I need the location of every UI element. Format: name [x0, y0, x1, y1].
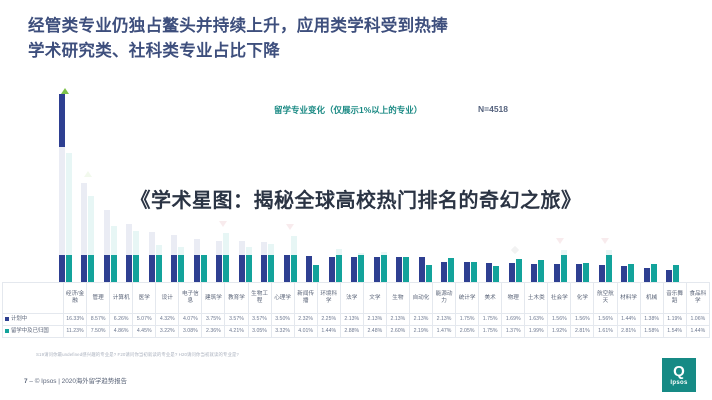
value-cell: 1.69%: [502, 314, 525, 326]
value-cell: 1.75%: [479, 314, 502, 326]
bar-series-2: [628, 264, 634, 282]
bar-series-2: [201, 255, 207, 282]
value-cell: 3.57%: [225, 314, 248, 326]
bar-series-1: [621, 266, 627, 282]
value-cell: 1.06%: [686, 314, 709, 326]
category-cell: 电子信息: [179, 283, 202, 314]
bar-series-1: [666, 270, 672, 282]
category-cell: 土木类: [525, 283, 548, 314]
bar-series-2: [583, 263, 589, 282]
series-row-1: 计划中 16.33%8.57%6.26%5.07%4.32%4.07%3.75%…: [3, 314, 710, 326]
value-cell: 1.56%: [594, 314, 617, 326]
value-cell: 1.63%: [525, 314, 548, 326]
footer-text: © Ipsos | 2020海外留学趋势报告: [35, 378, 127, 385]
ipsos-logo-mark: Q: [673, 364, 685, 379]
bar-series-1: [306, 256, 312, 282]
category-cell: 食品科学: [686, 283, 709, 314]
bar-series-1: [419, 257, 425, 282]
value-cell: 3.22%: [156, 326, 179, 338]
bar-series-1: [509, 263, 515, 282]
bar-series-1: [329, 257, 335, 282]
bar-series-2: [651, 264, 657, 282]
data-table: 经济/金融管理计算机医学设计电子信息建筑学教育学生物工程心理学新闻传播环境科学法…: [2, 282, 710, 338]
value-cell: 2.19%: [409, 326, 432, 338]
value-cell: 2.13%: [363, 314, 386, 326]
table-corner-cell: [3, 283, 64, 314]
value-cell: 4.07%: [179, 314, 202, 326]
value-cell: 5.07%: [133, 314, 156, 326]
footer: 7 – © Ipsos | 2020海外留学趋势报告: [24, 376, 127, 385]
footer-dash: –: [29, 378, 33, 385]
value-cell: 3.57%: [248, 314, 271, 326]
category-cell: 统计学: [456, 283, 479, 314]
value-cell: 1.58%: [640, 326, 663, 338]
value-cell: 1.38%: [640, 314, 663, 326]
value-cell: 2.60%: [386, 326, 409, 338]
category-cell: 物理: [502, 283, 525, 314]
category-cell: 生物工程: [248, 283, 271, 314]
category-cell: 管理: [87, 283, 110, 314]
bar-series-1: [464, 262, 470, 282]
value-cell: 2.13%: [433, 314, 456, 326]
category-cell: 文学: [363, 283, 386, 314]
bar-series-2: [516, 259, 522, 282]
value-cell: 1.47%: [433, 326, 456, 338]
category-cell: 设计: [156, 283, 179, 314]
value-cell: 4.21%: [225, 326, 248, 338]
overlay-title: 《学术星图：揭秘全球高校热门排名的奇幻之旅》: [36, 187, 676, 216]
value-cell: 3.08%: [179, 326, 202, 338]
value-cell: 1.54%: [663, 326, 686, 338]
trend-marker-up: [61, 88, 69, 94]
value-cell: 2.88%: [340, 326, 363, 338]
value-cell: 4.86%: [110, 326, 133, 338]
value-cell: 2.05%: [456, 326, 479, 338]
category-cell: 经济/金融: [64, 283, 87, 314]
value-cell: 1.44%: [317, 326, 340, 338]
value-cell: 3.50%: [271, 314, 294, 326]
value-cell: 1.19%: [663, 314, 686, 326]
category-cell: 教育学: [225, 283, 248, 314]
ipsos-logo: Q Ipsos: [662, 358, 696, 392]
category-cell: 自动化: [409, 283, 432, 314]
value-cell: 2.25%: [317, 314, 340, 326]
value-cell: 11.23%: [64, 326, 87, 338]
value-cell: 2.48%: [363, 326, 386, 338]
bar-series-2: [673, 265, 679, 282]
value-cell: 16.33%: [64, 314, 87, 326]
category-cell: 新闻传播: [294, 283, 317, 314]
bar-series-1: [284, 255, 290, 282]
value-cell: 2.13%: [386, 314, 409, 326]
category-cell: 生物: [386, 283, 409, 314]
category-cell: 医学: [133, 283, 156, 314]
value-cell: 1.75%: [456, 314, 479, 326]
bar-series-1: [374, 257, 380, 282]
value-cell: 1.37%: [502, 326, 525, 338]
values-table: 经济/金融管理计算机医学设计电子信息建筑学教育学生物工程心理学新闻传播环境科学法…: [2, 282, 710, 338]
value-cell: 2.13%: [340, 314, 363, 326]
value-cell: 4.01%: [294, 326, 317, 338]
category-cell: 音乐舞蹈: [663, 283, 686, 314]
value-cell: 8.57%: [87, 314, 110, 326]
slide-root: 经管类专业仍独占鳌头并持续上升，应用类学科受到热捧 学术研究类、社科类专业占比下…: [0, 0, 712, 400]
bar-series-1: [396, 257, 402, 282]
headline: 经管类专业仍独占鳌头并持续上升，应用类学科受到热捧 学术研究类、社科类专业占比下…: [28, 14, 668, 64]
legend-swatch-1: [5, 317, 9, 321]
bar-series-2: [493, 266, 499, 282]
value-cell: 4.32%: [156, 314, 179, 326]
value-cell: 2.13%: [409, 314, 432, 326]
legend-text-1: 计划中: [11, 316, 27, 322]
bar-series-1: [599, 265, 605, 282]
category-cell: 法学: [340, 283, 363, 314]
value-cell: 7.50%: [87, 326, 110, 338]
ipsos-logo-name: Ipsos: [670, 380, 687, 386]
legend-row-label-1: 计划中: [3, 314, 64, 326]
bar-series-2: [448, 258, 454, 282]
value-cell: 1.56%: [571, 314, 594, 326]
category-cell: 化学: [571, 283, 594, 314]
category-cell: 机械: [640, 283, 663, 314]
value-cell: 3.75%: [202, 314, 225, 326]
value-cell: 1.44%: [686, 326, 709, 338]
bar-series-2: [471, 262, 477, 282]
category-cell: 计算机: [110, 283, 133, 314]
category-cell: 心理学: [271, 283, 294, 314]
page-number: 7: [24, 378, 28, 385]
value-cell: 1.99%: [525, 326, 548, 338]
value-cell: 1.44%: [617, 314, 640, 326]
footnote: S19请问你最undefined感兴趣的专业是? F20请问你当初就读的专业是?…: [36, 352, 239, 358]
category-cell: 美术: [479, 283, 502, 314]
value-cell: 1.56%: [548, 314, 571, 326]
category-cell: 环境科学: [317, 283, 340, 314]
category-cell: 社会学: [548, 283, 571, 314]
bar-series-1: [644, 268, 650, 282]
value-cell: 2.81%: [617, 326, 640, 338]
bar-series-2: [381, 252, 387, 282]
legend-text-2: 留学中及已归国: [11, 328, 49, 334]
value-cell: 3.32%: [271, 326, 294, 338]
value-cell: 4.45%: [133, 326, 156, 338]
bar-series-1: [486, 263, 492, 282]
bar-series-1: [441, 262, 447, 282]
legend-row-label-2: 留学中及已归国: [3, 326, 64, 338]
value-cell: 2.81%: [571, 326, 594, 338]
category-cell: 航空航天: [594, 283, 617, 314]
bar-series-1: [554, 264, 560, 282]
category-row: 经济/金融管理计算机医学设计电子信息建筑学教育学生物工程心理学新闻传播环境科学法…: [3, 283, 710, 314]
bar-series-1: [576, 264, 582, 282]
value-cell: 2.36%: [202, 326, 225, 338]
bar-series-2: [538, 260, 544, 282]
value-cell: 1.75%: [479, 326, 502, 338]
category-cell: 材料学: [617, 283, 640, 314]
value-cell: 1.92%: [548, 326, 571, 338]
bar-series-1: [531, 264, 537, 282]
value-cell: 3.05%: [248, 326, 271, 338]
category-cell: 建筑学: [202, 283, 225, 314]
value-cell: 1.61%: [594, 326, 617, 338]
bar-series-2: [426, 265, 432, 282]
legend-swatch-2: [5, 329, 9, 333]
title-overlay-banner: 《学术星图：揭秘全球高校热门排名的奇幻之旅》: [0, 147, 712, 255]
category-cell: 能源动力: [433, 283, 456, 314]
value-cell: 6.26%: [110, 314, 133, 326]
value-cell: 2.32%: [294, 314, 317, 326]
bar-series-2: [403, 257, 409, 282]
series-row-2: 留学中及已归国 11.23%7.50%4.86%4.45%3.22%3.08%2…: [3, 326, 710, 338]
bar-series-2: [358, 253, 364, 282]
bar-series-2: [313, 265, 319, 282]
bar-series-1: [351, 257, 357, 282]
